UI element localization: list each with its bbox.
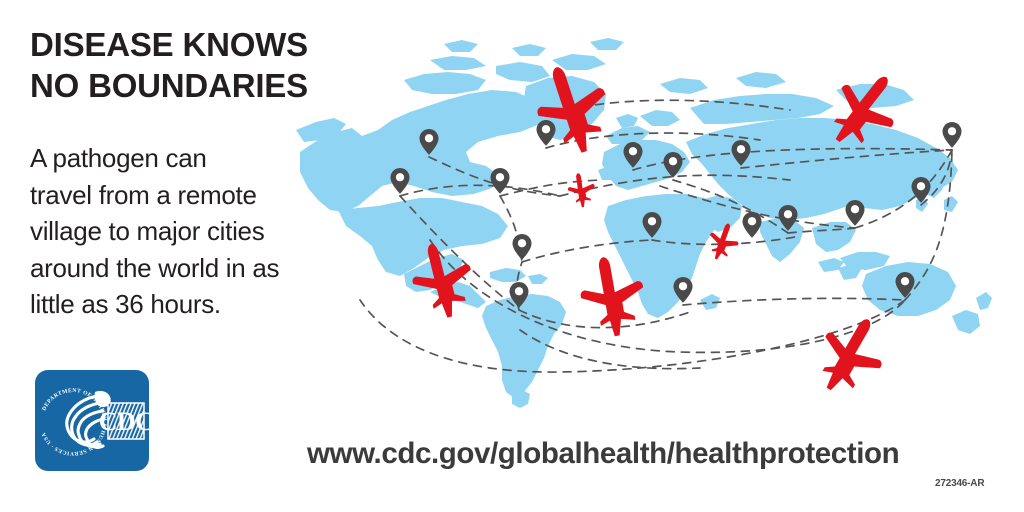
pin-east-asia bbox=[845, 200, 864, 226]
body-line-4: around the world in as bbox=[30, 250, 380, 287]
pin-greenland bbox=[536, 120, 555, 146]
pin-japan bbox=[911, 177, 930, 203]
cdc-wordmark: CDC bbox=[99, 403, 149, 439]
headline: DISEASE KNOWS NO BOUNDARIES bbox=[30, 24, 390, 106]
pin-russia-east bbox=[942, 122, 961, 148]
cdc-wordmark-text: CDC bbox=[99, 407, 149, 436]
body-copy: A pathogen can travel from a remote vill… bbox=[30, 140, 380, 323]
cdc-hhs-logo[interactable]: DEPARTMENT OF HEALTH & HUMAN SERVICES · … bbox=[35, 370, 149, 471]
pin-north-america-west bbox=[390, 168, 409, 194]
pin-south-asia bbox=[742, 212, 761, 238]
pin-north-america-east bbox=[490, 168, 509, 194]
infographic-poster: DISEASE KNOWS NO BOUNDARIES A pathogen c… bbox=[0, 0, 1024, 512]
headline-line-1: DISEASE KNOWS bbox=[30, 24, 390, 65]
body-line-3: village to major cities bbox=[30, 213, 380, 250]
body-line-1: A pathogen can bbox=[30, 140, 380, 177]
body-line-5: little as 36 hours. bbox=[30, 286, 380, 323]
plane-oceania bbox=[804, 305, 898, 406]
headline-line-2: NO BOUNDARIES bbox=[30, 65, 390, 106]
website-url[interactable]: www.cdc.gov/globalhealth/healthprotectio… bbox=[307, 437, 899, 471]
pin-caribbean bbox=[512, 234, 531, 260]
plane-europe-small bbox=[566, 171, 597, 209]
publication-code: 272346-AR bbox=[935, 478, 984, 489]
body-line-2: travel from a remote bbox=[30, 177, 380, 214]
